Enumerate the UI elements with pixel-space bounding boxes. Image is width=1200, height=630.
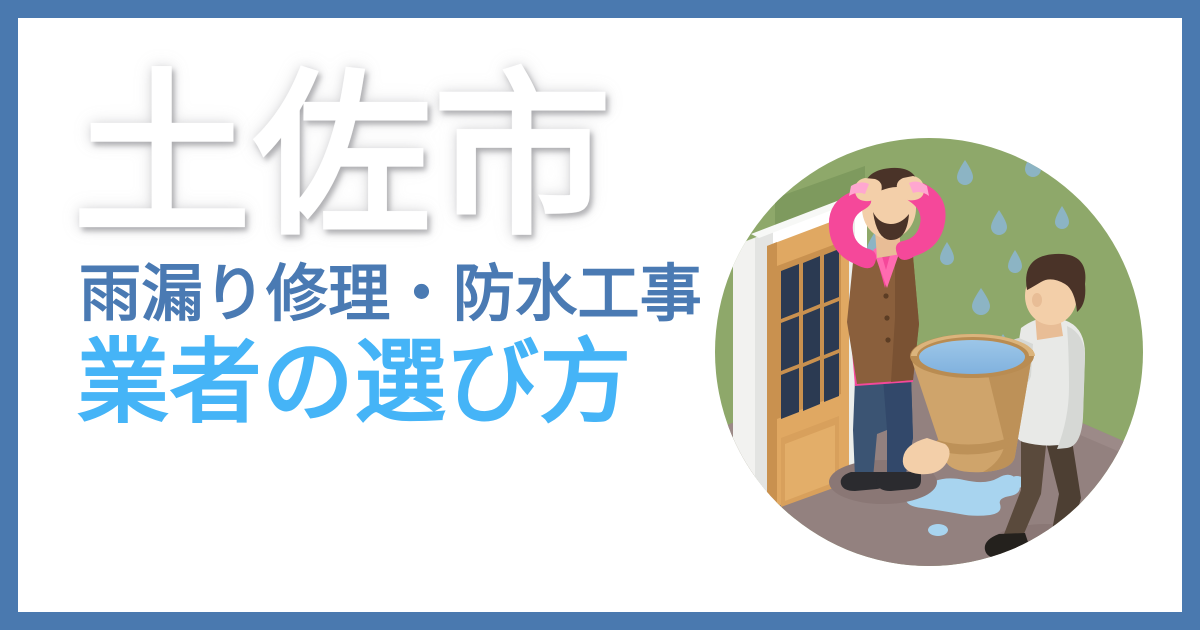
door-glass-panes xyxy=(777,242,841,419)
subtitle-emphasis: 業者の選び方 xyxy=(77,335,733,432)
banner-card: 土佐市 雨漏り修理・防水工事 業者の選び方 xyxy=(18,18,1182,612)
homeowner-shoe-right xyxy=(877,472,921,491)
headline-block: 土佐市 雨漏り修理・防水工事 業者の選び方 xyxy=(73,66,733,432)
carrier-shoe-back xyxy=(1045,536,1087,558)
door-frame-outer-left xyxy=(733,238,755,518)
door-leaf-shade xyxy=(767,242,777,510)
bucket-water xyxy=(919,340,1025,374)
illustration-svg xyxy=(715,138,1143,566)
roof-leak-illustration xyxy=(715,138,1143,566)
subtitle-service: 雨漏り修理・防水工事 xyxy=(79,260,733,329)
page-title-city: 土佐市 xyxy=(73,66,733,248)
banner-canvas: 土佐市 雨漏り修理・防水工事 業者の選び方 xyxy=(0,0,1200,630)
puddle-droplet-b xyxy=(928,524,948,536)
carrier-ear xyxy=(1032,293,1042,307)
